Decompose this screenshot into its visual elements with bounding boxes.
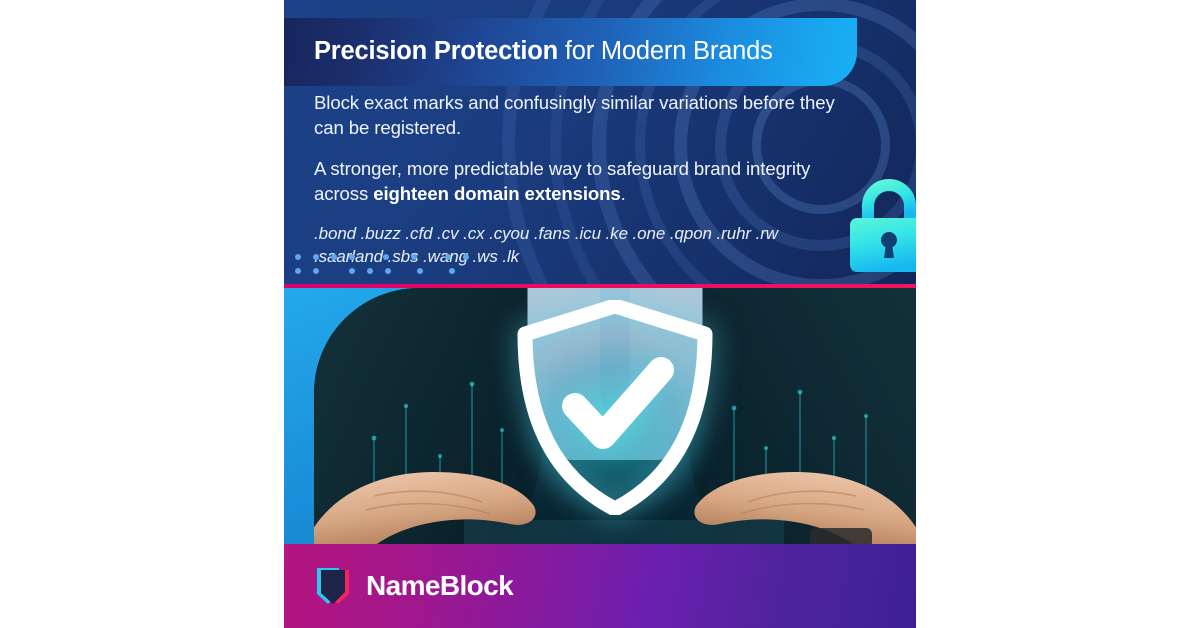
body-copy: Block exact marks and confusingly simila… <box>314 90 844 268</box>
brand-wordmark: NameBlock <box>366 572 513 600</box>
page-title: Precision Protection for Modern Brands <box>284 39 773 65</box>
header-band: Precision Protection for Modern Brands <box>284 18 857 86</box>
accent-divider <box>284 284 916 288</box>
padlock-icon <box>846 170 916 278</box>
paragraph-1: Block exact marks and confusingly simila… <box>314 90 844 140</box>
promo-card: Precision Protection for Modern Brands B… <box>284 0 916 628</box>
dot-grid-icon <box>290 251 480 277</box>
paragraph-2-tail: . <box>621 183 626 204</box>
hero-photo <box>314 288 916 544</box>
photo-panel <box>284 288 916 544</box>
poster-canvas: Precision Protection for Modern Brands B… <box>0 0 1200 628</box>
nameblock-shield-logo <box>315 566 351 606</box>
paragraph-2: A stronger, more predictable way to safe… <box>314 156 844 206</box>
paragraph-2-emphasis: eighteen domain extensions <box>373 183 620 204</box>
page-title-rest: for Modern Brands <box>558 37 773 65</box>
page-title-emphasis: Precision Protection <box>314 37 558 65</box>
top-text-panel: Precision Protection for Modern Brands B… <box>284 0 916 287</box>
footer-bar: NameBlock <box>284 544 916 628</box>
hands-illustration <box>314 428 916 544</box>
